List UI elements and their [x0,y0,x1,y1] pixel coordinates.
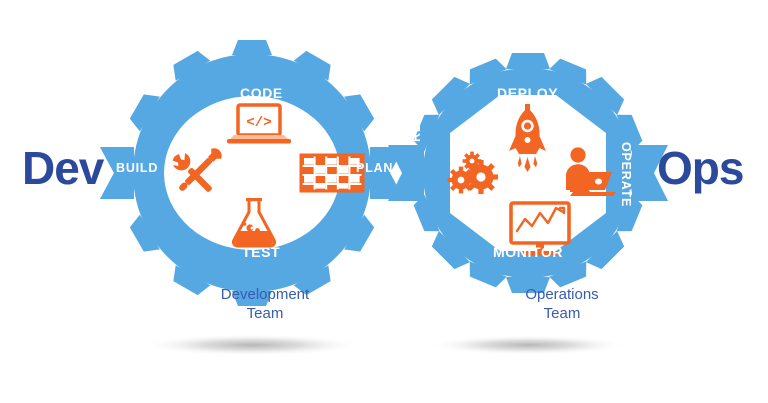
stage-label-plan[interactable]: PLAN [356,161,393,175]
stage-label-build[interactable]: BUILD [116,161,158,175]
stage-label-operate[interactable]: OPERATE [619,142,633,207]
kanban-board-icon [301,155,363,191]
stage-label-release[interactable]: RELEASE [409,77,423,142]
development-team-line1: Development [175,286,355,305]
development-team-line2: Team [175,305,355,324]
right-gear-release-notch [390,145,424,201]
left-gear-shadow [142,334,362,356]
ops-wordmark: Ops [657,145,743,191]
operations-team-line1: Operations [472,286,652,305]
diagram-canvas: </> [0,0,768,403]
operations-team-line2: Team [472,305,652,324]
svg-text:</>: </> [246,115,271,131]
stage-label-deploy[interactable]: DEPLOY [497,85,558,101]
operations-team-label: Operations Team [472,286,652,324]
stage-label-test[interactable]: TEST [242,244,280,260]
dev-wordmark: Dev [22,145,103,191]
right-gear-shadow [428,335,628,355]
stage-label-monitor[interactable]: MONITOR [493,244,563,260]
stage-label-code[interactable]: CODE [240,85,283,101]
development-team-label: Development Team [175,286,355,324]
devops-diagram: </> [0,0,768,403]
